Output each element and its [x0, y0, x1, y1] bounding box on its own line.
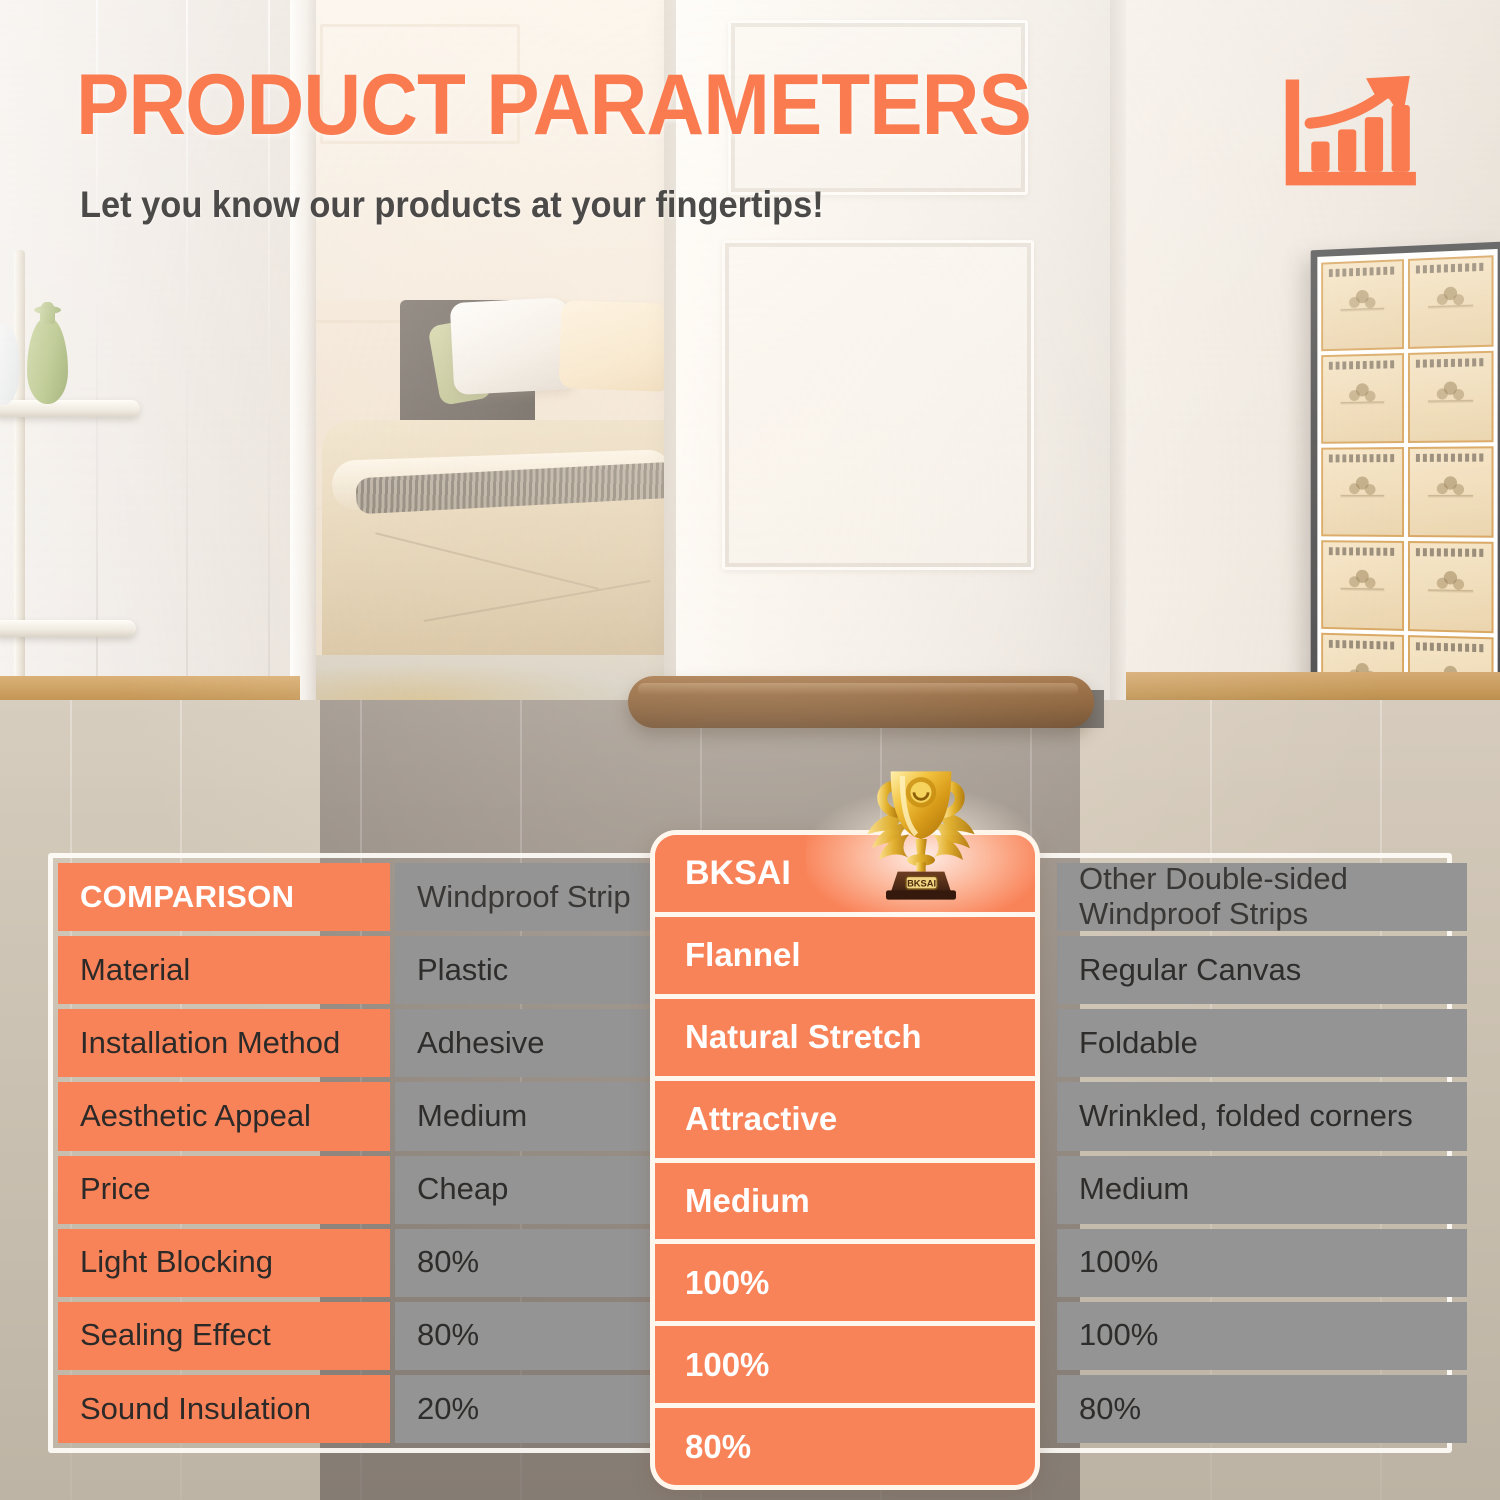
table-row-label: Price	[58, 1156, 390, 1224]
table-cell-other: 100%	[1057, 1302, 1467, 1370]
pillow	[558, 300, 671, 392]
poster-tile	[1408, 541, 1494, 633]
table-row-label: Light Blocking	[58, 1229, 390, 1297]
shelf-board	[0, 620, 136, 637]
table-cell-windproof-strip: Medium	[395, 1082, 657, 1150]
table-cell-windproof-strip: 80%	[395, 1229, 657, 1297]
table-row-label: Sound Insulation	[58, 1375, 390, 1443]
table-cell-windproof-strip: Adhesive	[395, 1009, 657, 1077]
poster-tile	[1408, 446, 1494, 537]
comparison-table: COMPARISONWindproof StripOther Double-si…	[48, 853, 1452, 1453]
page-title: PRODUCT PARAMETERS	[76, 62, 1031, 148]
bksai-highlight-column: BKSAIFlannelNatural StretchAttractiveMed…	[650, 830, 1040, 1490]
draft-stopper-product	[628, 676, 1094, 728]
table-header-other: Other Double-sided Windproof Strips	[1057, 863, 1467, 931]
table-cell-other: Medium	[1057, 1156, 1467, 1224]
table-cell-windproof-strip: Plastic	[395, 936, 657, 1004]
table-cell-other: 80%	[1057, 1375, 1467, 1443]
bksai-value-cell: Medium	[655, 1163, 1035, 1240]
vase-neck	[34, 306, 61, 314]
poster-caption	[1416, 358, 1484, 367]
table-cell-windproof-strip: 80%	[395, 1302, 657, 1370]
table-cell-other: Foldable	[1057, 1009, 1467, 1077]
infographic-page: PRODUCT PARAMETERS Let you know our prod…	[0, 0, 1500, 1500]
bksai-value-cell: 80%	[655, 1408, 1035, 1485]
bksai-value-cell: Attractive	[655, 1081, 1035, 1158]
table-row-label: Material	[58, 936, 390, 1004]
poster-tile	[1408, 255, 1494, 349]
poster-tile	[1321, 447, 1404, 537]
growth-chart-icon	[1276, 72, 1422, 194]
poster-caption	[1416, 263, 1484, 274]
table-cell-other: 100%	[1057, 1229, 1467, 1297]
table-cell-windproof-strip: Cheap	[395, 1156, 657, 1224]
green-vase	[27, 318, 68, 404]
poster-caption	[1329, 640, 1395, 650]
table-cell-windproof-strip: 20%	[395, 1375, 657, 1443]
shelf-post	[14, 250, 25, 720]
poster-tile	[1321, 259, 1404, 351]
trophy-nameplate-label: BKSAI	[907, 878, 936, 888]
table-cell-other: Regular Canvas	[1057, 936, 1467, 1004]
poster-caption	[1329, 454, 1395, 462]
door-panel-lower	[722, 240, 1034, 570]
bksai-value-cell: Natural Stretch	[655, 999, 1035, 1076]
poster-caption	[1329, 360, 1395, 369]
table-row-label: Aesthetic Appeal	[58, 1082, 390, 1150]
trophy-icon: BKSAI	[851, 762, 991, 902]
poster-tile	[1408, 351, 1494, 443]
table-header-criterion: COMPARISON	[58, 863, 390, 931]
pillow	[450, 297, 575, 395]
poster-grid	[1317, 249, 1497, 735]
poster-caption	[1329, 547, 1395, 555]
bksai-value-cell: 100%	[655, 1244, 1035, 1321]
poster-caption	[1416, 642, 1484, 652]
bksai-value-cell: 100%	[655, 1326, 1035, 1403]
poster-caption	[1416, 454, 1484, 462]
poster-caption	[1416, 548, 1484, 557]
table-cell-other: Wrinkled, folded corners	[1057, 1082, 1467, 1150]
shelf-board	[0, 400, 140, 417]
framed-poster-art	[1311, 242, 1500, 743]
poster-caption	[1329, 267, 1395, 277]
bksai-value-cell: Flannel	[655, 917, 1035, 994]
table-row-label: Sealing Effect	[58, 1302, 390, 1370]
page-subtitle: Let you know our products at your finger…	[80, 186, 824, 223]
table-header-windproof-strip: Windproof Strip	[395, 863, 657, 931]
poster-tile	[1321, 353, 1404, 444]
table-row-label: Installation Method	[58, 1009, 390, 1077]
poster-tile	[1321, 540, 1404, 631]
